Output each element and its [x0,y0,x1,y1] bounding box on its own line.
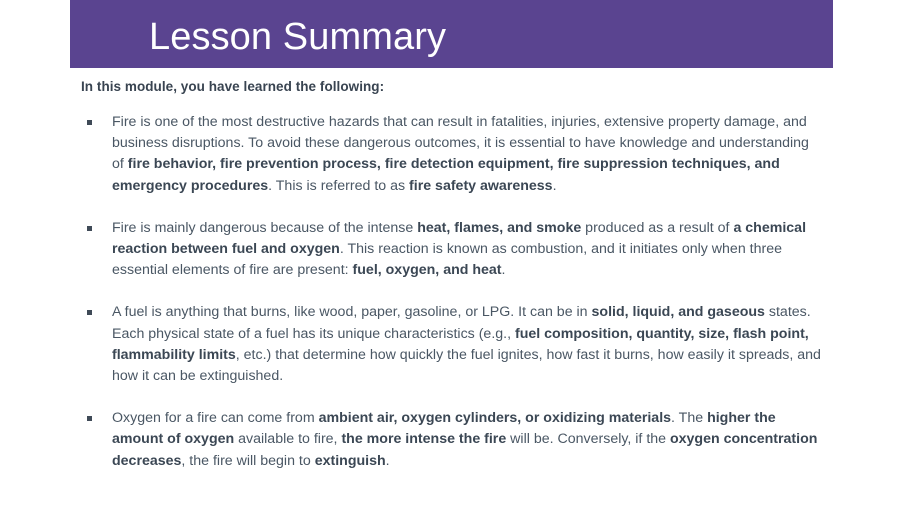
body-text: . [502,262,506,278]
emphasis-text: ambient air, oxygen cylinders, or oxidiz… [319,410,671,426]
body-text: will be. Conversely, if the [506,431,670,447]
list-item-text: A fuel is anything that burns, like wood… [112,304,821,384]
body-text: . The [671,410,707,426]
body-text: . [386,453,390,469]
emphasis-text: heat, flames, and smoke [417,220,581,236]
lesson-summary-header-banner: Lesson Summary [70,0,833,68]
emphasis-text: solid, liquid, and gaseous [592,304,765,320]
emphasis-text: the more intense the fire [341,431,506,447]
intro-text: In this module, you have learned the fol… [81,79,384,94]
body-text: Oxygen for a fire can come from [112,410,319,426]
list-item-text: Fire is mainly dangerous because of the … [112,220,806,278]
square-bullet-icon [87,416,92,421]
page-title: Lesson Summary [149,18,446,56]
body-text: produced as a result of [581,220,733,236]
square-bullet-icon [87,120,92,125]
emphasis-text: extinguish [315,453,386,469]
body-text: . This is referred to as [268,178,409,194]
emphasis-text: fire safety awareness [409,178,553,194]
square-bullet-icon [87,310,92,315]
lesson-summary-page: Lesson Summary In this module, you have … [0,0,900,531]
list-item-text: Oxygen for a fire can come from ambient … [112,410,817,468]
list-item-text: Fire is one of the most destructive haza… [112,114,809,194]
body-text: available to fire, [234,431,341,447]
emphasis-text: fuel, oxygen, and heat [353,262,502,278]
body-text: . [553,178,557,194]
list-item: Fire is mainly dangerous because of the … [81,218,821,282]
body-text: A fuel is anything that burns, like wood… [112,304,592,320]
body-text: , the fire will begin to [181,453,314,469]
list-item: A fuel is anything that burns, like wood… [81,302,821,387]
list-item: Oxygen for a fire can come from ambient … [81,408,821,472]
list-item: Fire is one of the most destructive haza… [81,112,821,197]
body-text: Fire is mainly dangerous because of the … [112,220,417,236]
square-bullet-icon [87,226,92,231]
summary-bullet-list: Fire is one of the most destructive haza… [81,112,821,472]
